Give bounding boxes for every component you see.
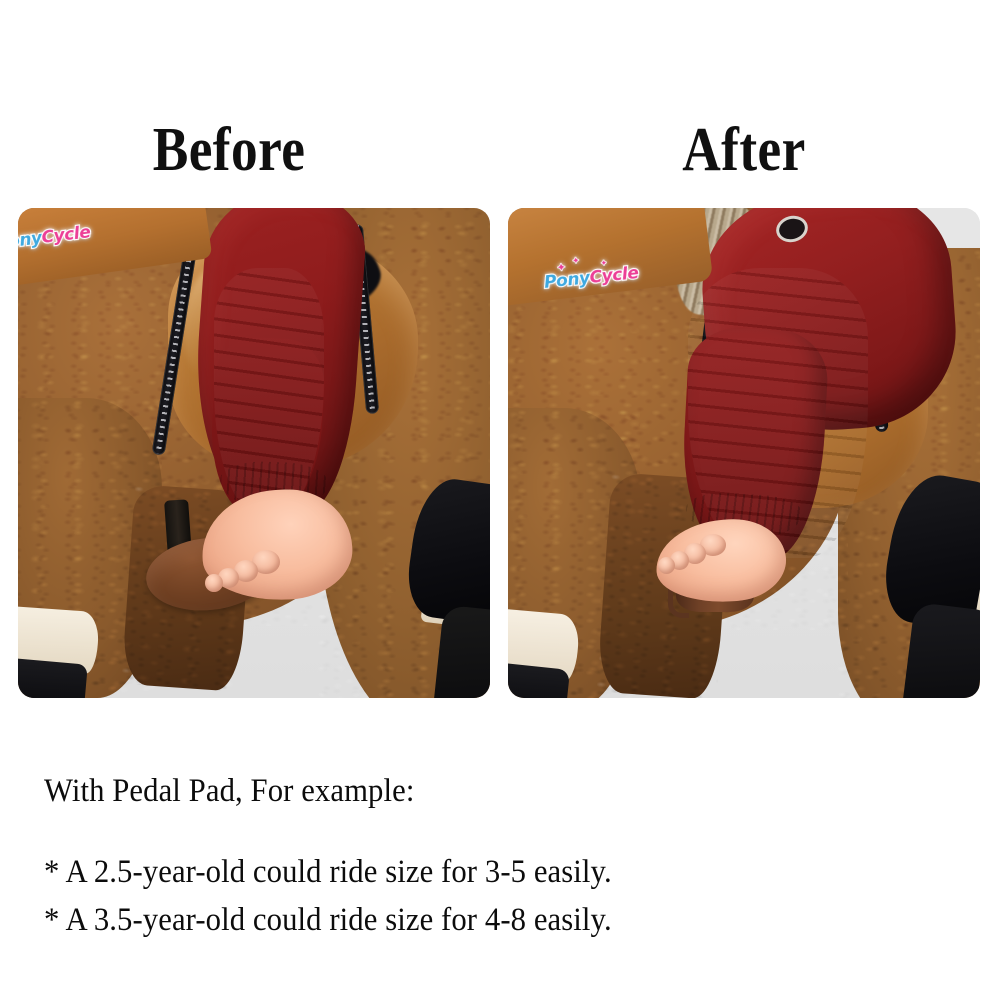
bullet-line-2: * A 3.5-year-old could ride size for 4-8…: [44, 896, 900, 944]
heading-after: After: [624, 108, 865, 192]
before-child-toes: [198, 548, 294, 592]
photo-after: ✦ ✦ ✦ PonyCycle: [508, 208, 980, 698]
logo-star-icon: ✦: [556, 262, 566, 274]
heading-before: Before: [109, 108, 350, 192]
bullet-line-1: * A 2.5-year-old could ride size for 3-5…: [44, 848, 900, 896]
after-child-toes: [656, 534, 736, 578]
bullet-list: * A 2.5-year-old could ride size for 3-5…: [44, 848, 964, 944]
lead-line: With Pedal Pad, For example:: [44, 768, 900, 814]
headings-row: Before After: [0, 108, 1000, 192]
logo-star-icon: ✦: [600, 259, 607, 268]
after-scene: ✦ ✦ ✦ PonyCycle: [508, 208, 980, 698]
bottom-text-block: With Pedal Pad, For example: * A 2.5-yea…: [44, 768, 964, 944]
photo-before: PonyCycle: [18, 208, 490, 698]
logo-star-icon: ✦: [572, 257, 580, 267]
after-hind-hoof-lower: [902, 602, 980, 698]
before-scene: PonyCycle: [18, 208, 490, 698]
